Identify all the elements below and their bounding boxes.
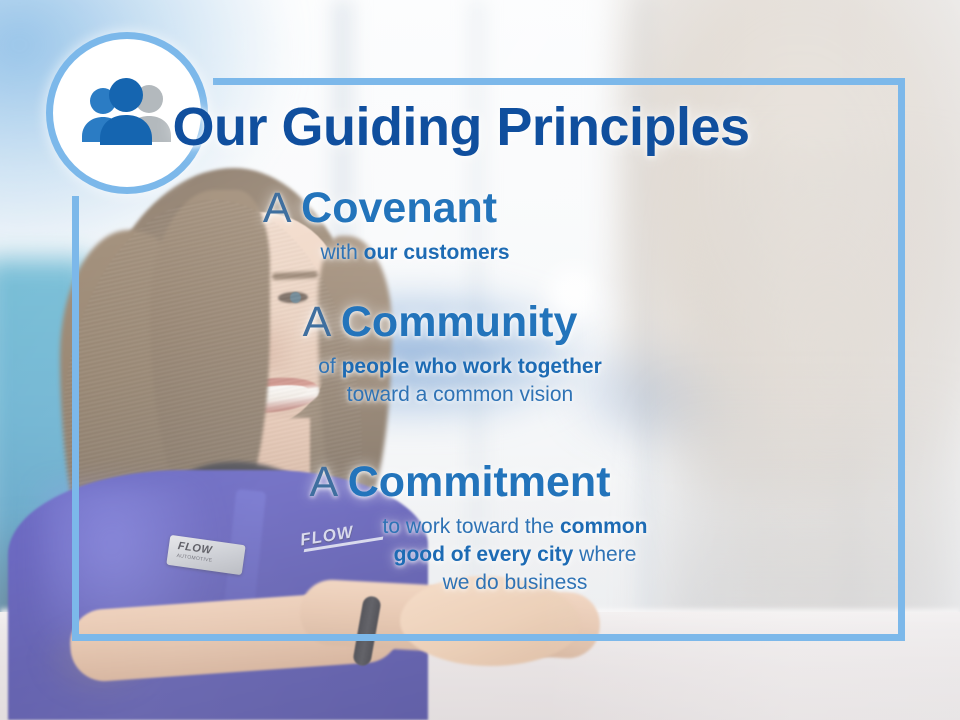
principle-covenant: A Covenant with our customers [0,186,960,267]
subtext-run: where [573,543,636,566]
subtext-run: to work toward the [383,515,560,538]
principle-article: A [263,184,289,232]
subtext-line: of people who work together [40,353,880,381]
subtext-run: with [320,241,363,264]
subtext-line: good of every city where [110,541,920,569]
subtext-emphasis: people who work together [342,355,602,378]
principle-keyword: Community [341,298,578,346]
frame-top-border [213,78,905,85]
page-title: Our Guiding Principles [0,96,960,158]
subtext-emphasis: our customers [364,241,510,264]
principle-community: A Community of people who work togethert… [0,300,960,409]
principle-keyword: Covenant [301,184,497,232]
principle-subtext: with our customers [0,239,760,267]
principle-title: A Community [0,300,880,346]
principle-title: A Covenant [0,186,760,232]
subtext-line: to work toward the common [110,513,920,541]
principle-title: A Commitment [0,460,920,506]
poster-canvas: FLOW AUTOMOTIVE FLOW [0,0,960,720]
subtext-emphasis: common [560,515,648,538]
principle-article: A [303,298,329,346]
principle-commitment: A Commitment to work toward the commongo… [0,460,960,597]
subtext-line: we do business [110,569,920,597]
subtext-line: with our customers [70,239,760,267]
frame-bottom-border [72,634,905,641]
subtext-emphasis: good of every city [394,543,574,566]
subtext-line: toward a common vision [40,381,880,409]
principle-keyword: Commitment [348,458,611,506]
subtext-run: of [318,355,341,378]
principle-subtext: to work toward the commongood of every c… [0,513,920,597]
principle-article: A [309,458,335,506]
subtext-run: toward a common vision [347,383,573,406]
principle-subtext: of people who work togethertoward a comm… [0,353,880,409]
subtext-run: we do business [443,571,588,594]
